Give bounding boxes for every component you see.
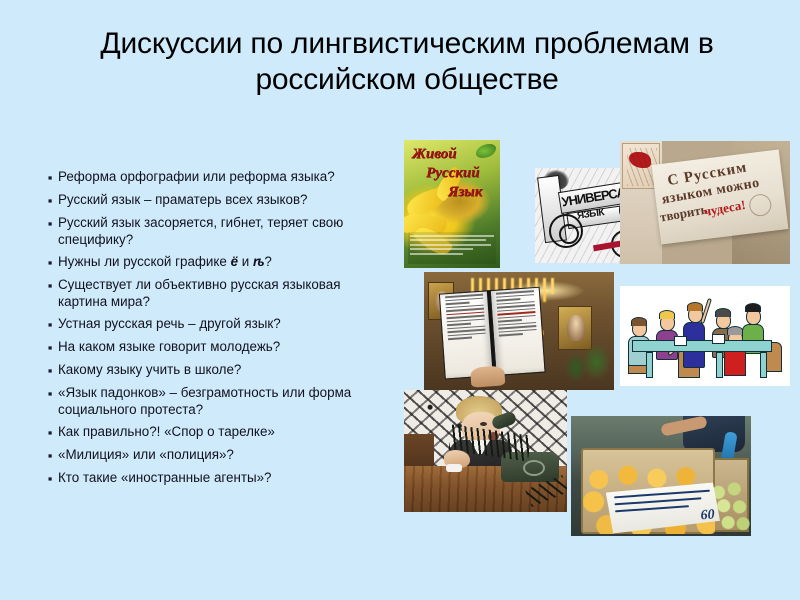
image-discussion-cartoon <box>620 286 790 386</box>
paper-sheet <box>712 334 725 344</box>
list-item-label: Как правильно?! «Спор о тарелке» <box>58 423 387 440</box>
list-item: ▪ Какому языку учить в школе? <box>42 361 387 379</box>
bullet-marker-icon: ▪ <box>42 446 58 464</box>
letter-yat-emphasis: ѣ <box>253 254 264 269</box>
bullet-marker-icon: ▪ <box>42 276 58 294</box>
rotary-phone-dial <box>523 460 545 476</box>
open-book <box>439 286 549 387</box>
table-leg <box>760 352 767 378</box>
list-item-label: Кто такие «иностранные агенты»? <box>58 469 387 486</box>
person-hair <box>631 317 647 326</box>
list-item-label: Русский язык – праматерь всех языков? <box>58 191 387 208</box>
boy-eye <box>480 422 487 426</box>
poster-title-line-3: Язык <box>448 184 482 201</box>
spiral-shape <box>549 214 583 248</box>
poster-title-line-1: Живой <box>412 146 456 163</box>
table-leg <box>646 352 653 378</box>
person-hair <box>715 308 731 317</box>
bullet-marker-icon: ▪ <box>42 361 58 379</box>
poster-credits-block <box>408 232 496 264</box>
list-item-text-head: Нужны ли русской графике <box>58 254 231 269</box>
bullet-marker-icon: ▪ <box>42 469 58 487</box>
list-item-label: «Язык падонков» – безграмотность или фор… <box>58 384 387 418</box>
list-item-text-mid: и <box>238 254 253 269</box>
book-page-right <box>490 287 546 376</box>
list-item: ▪ «Милиция» или «полиция»? <box>42 446 387 464</box>
poster-title-line-2: Русский <box>426 165 479 182</box>
person-hair <box>745 303 761 312</box>
list-item-label: На каком языке говорит молодежь? <box>58 338 387 355</box>
bullet-marker-icon: ▪ <box>42 423 58 441</box>
list-item: ▪ Существует ли объективно русская языко… <box>42 276 387 310</box>
list-item-text-tail: ? <box>264 254 271 269</box>
hand-holding-book <box>470 365 505 387</box>
bullet-marker-icon: ▪ <box>42 214 58 232</box>
sign-line-2 <box>615 497 702 505</box>
image-apricot-market-stall: 60 <box>571 416 751 536</box>
person-hair <box>727 326 743 335</box>
meeting-table <box>632 340 772 352</box>
bullet-marker-icon: ▪ <box>42 315 58 333</box>
list-item-label: Какому языку учить в школе? <box>58 361 387 378</box>
potted-plant <box>560 334 612 390</box>
list-item: ▪ На каком языке говорит молодежь? <box>42 338 387 356</box>
paper-sheet <box>674 336 687 346</box>
image-protest-banner: С Русским языком можно творить чудеса! <box>620 141 790 264</box>
person-hair <box>659 310 675 319</box>
banner-stamp-mark <box>748 193 773 218</box>
bullet-marker-icon: ▪ <box>42 168 58 186</box>
bullet-marker-icon: ▪ <box>42 338 58 356</box>
image-boy-on-telephone <box>404 390 567 512</box>
letter-yo-emphasis: ё <box>231 254 238 269</box>
list-item: ▪ Кто такие «иностранные агенты»? <box>42 469 387 487</box>
list-item-label: Устная русская речь – другой язык? <box>58 315 387 332</box>
list-item: ▪ Нужны ли русской графике ё и ѣ? <box>42 253 387 271</box>
person-hair <box>687 302 703 311</box>
list-item-label: Нужны ли русской графике ё и ѣ? <box>58 253 387 270</box>
banner-sheet: С Русским языком можно творить чудеса! <box>652 149 789 244</box>
discussion-topics-list: ▪ Реформа орфографии или реформа языка? … <box>42 168 387 492</box>
bullet-marker-icon: ▪ <box>42 191 58 209</box>
list-item-label: Русский язык засоряется, гибнет, теряет … <box>58 214 387 248</box>
page-title: Дискуссии по лингвистическим проблемам в… <box>62 26 752 98</box>
list-item: ▪ Реформа орфографии или реформа языка? <box>42 168 387 186</box>
list-item-label: Реформа орфографии или реформа языка? <box>58 168 387 185</box>
image-zhivoy-russky-yazyk-poster: Живой Русский Язык <box>404 140 500 268</box>
list-item: ▪ «Язык падонков» – безграмотность или ф… <box>42 384 387 418</box>
list-item: ▪ Русский язык – праматерь всех языков? <box>42 191 387 209</box>
list-item-label: Существует ли объективно русская языкова… <box>58 276 387 310</box>
list-item-label: «Милиция» или «полиция»? <box>58 446 387 463</box>
image-prayer-book-in-church <box>424 272 614 390</box>
bullet-marker-icon: ▪ <box>42 384 58 402</box>
boy-shirt-cuff <box>446 464 462 472</box>
list-item: ▪ Русский язык засоряется, гибнет, теряе… <box>42 214 387 248</box>
list-item: ▪ Как правильно?! «Спор о тарелке» <box>42 423 387 441</box>
sign-line-3 <box>615 505 689 512</box>
bullet-marker-icon: ▪ <box>42 253 58 271</box>
list-item: ▪ Устная русская речь – другой язык? <box>42 315 387 333</box>
table-leg <box>716 352 723 378</box>
